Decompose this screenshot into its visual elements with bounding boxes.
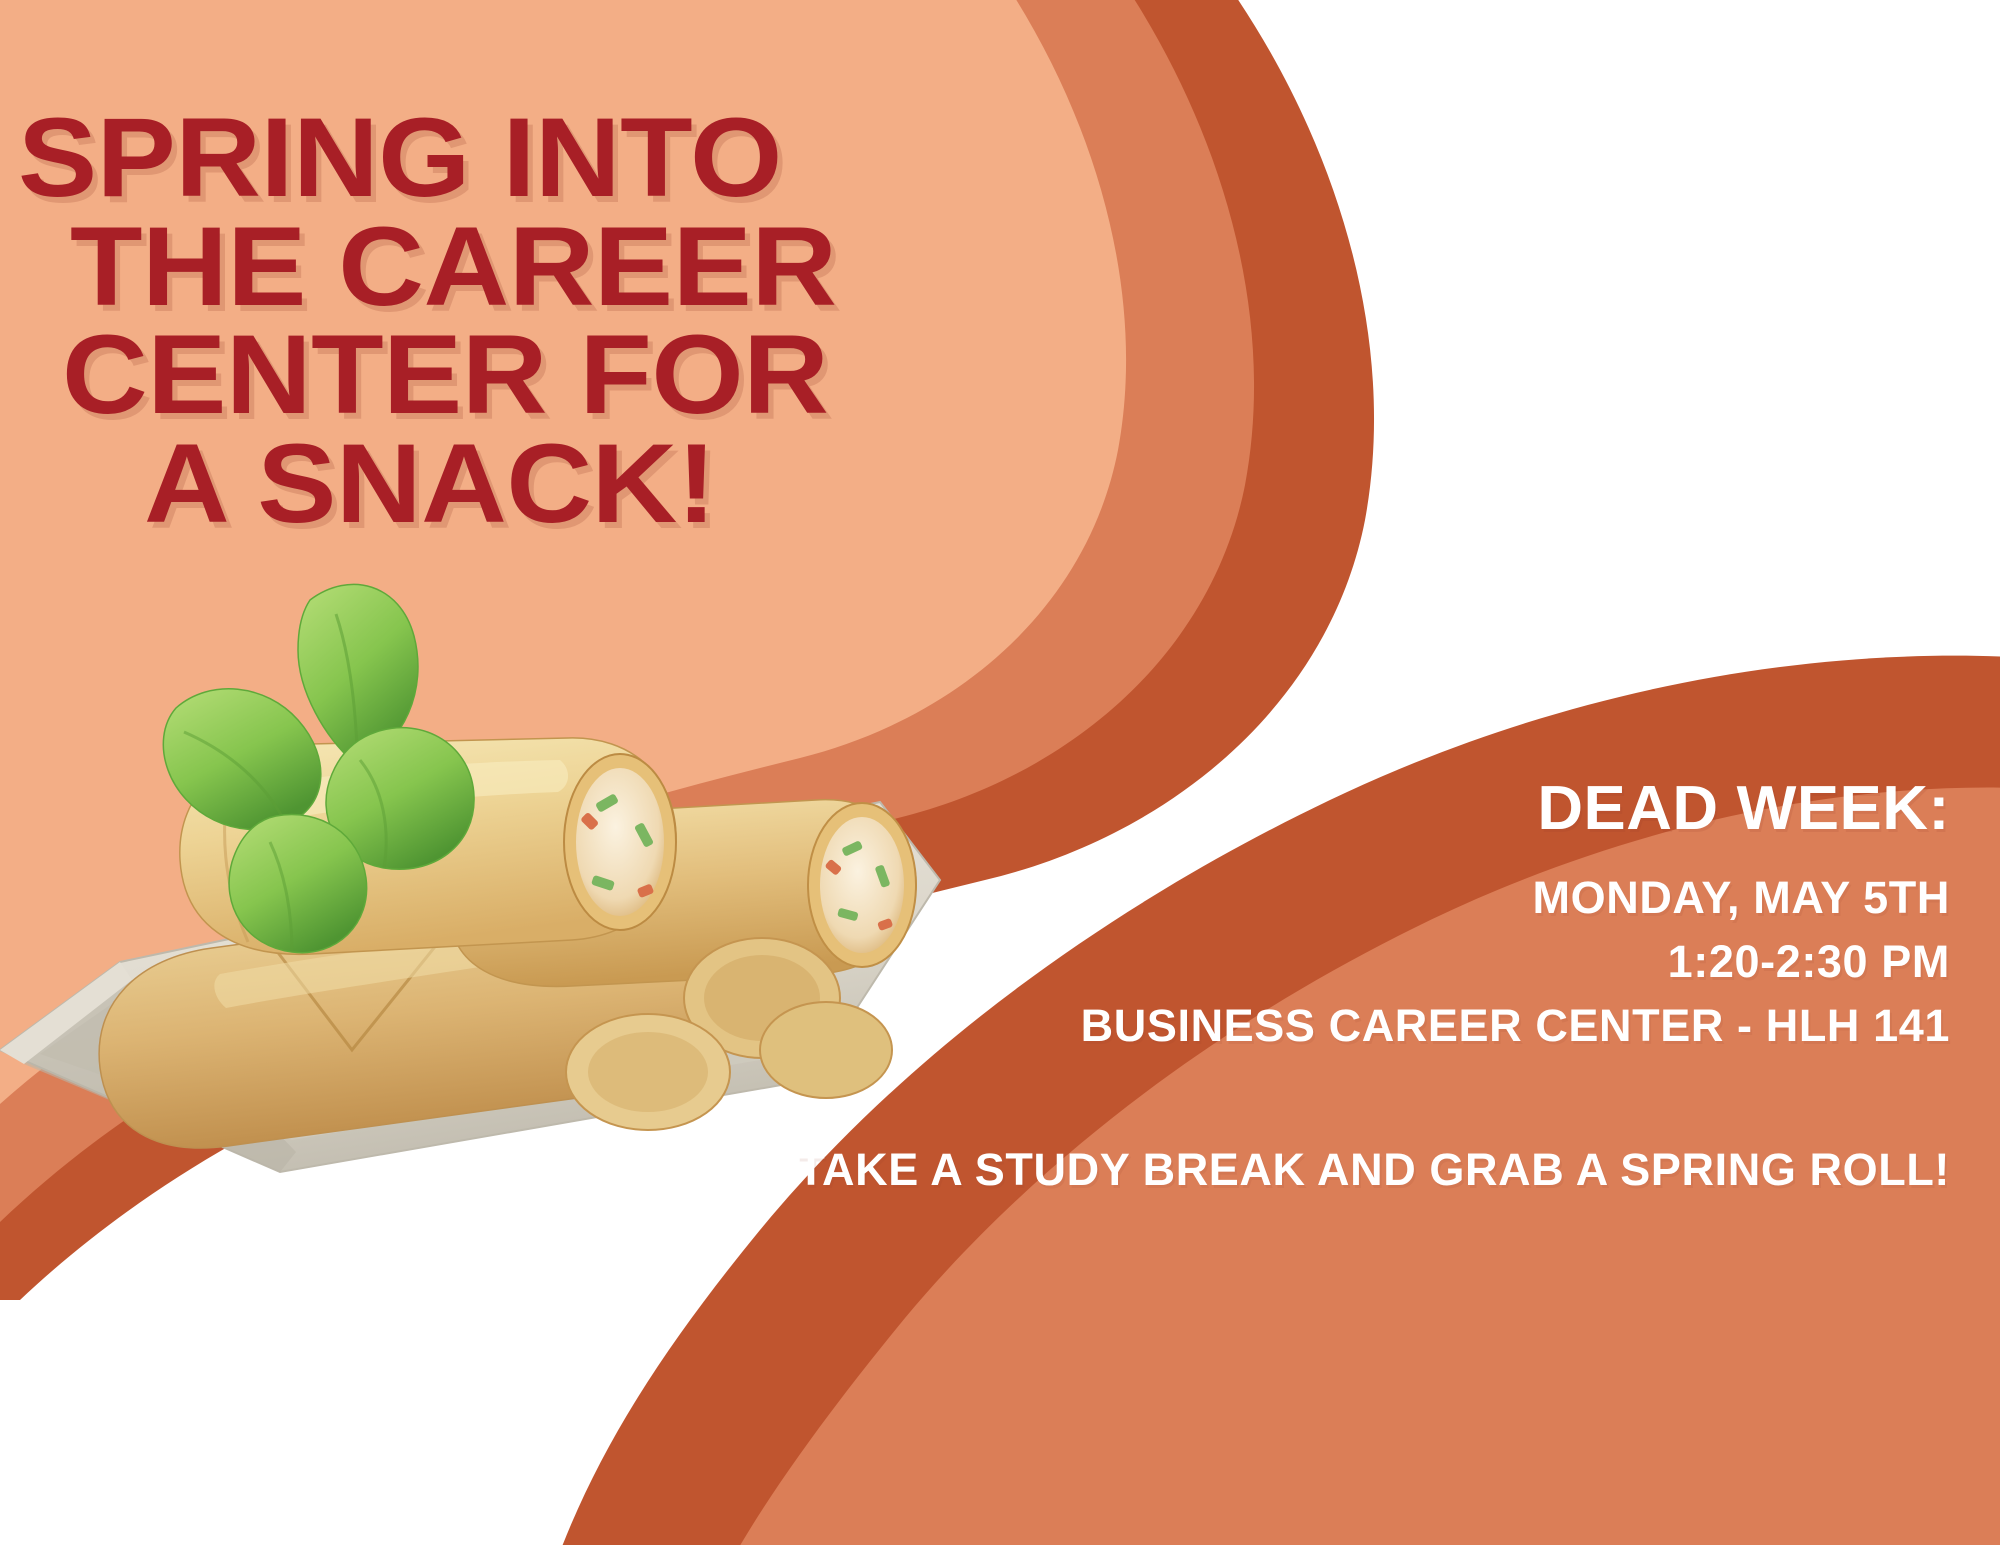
event-tagline: TAKE A STUDY BREAK AND GRAB A SPRING ROL… xyxy=(720,1138,1950,1202)
event-details-block: DEAD WEEK: MONDAY, MAY 5TH 1:20-2:30 PM … xyxy=(720,778,1950,1202)
event-heading: DEAD WEEK: xyxy=(695,778,1950,840)
poster-canvas: SPRING INTO THE CAREER CENTER FOR A SNAC… xyxy=(0,0,2000,1545)
event-time: 1:20-2:30 PM xyxy=(720,930,1950,994)
event-location: BUSINESS CAREER CENTER - HLH 141 xyxy=(720,994,1950,1058)
event-date: MONDAY, MAY 5TH xyxy=(720,866,1950,930)
